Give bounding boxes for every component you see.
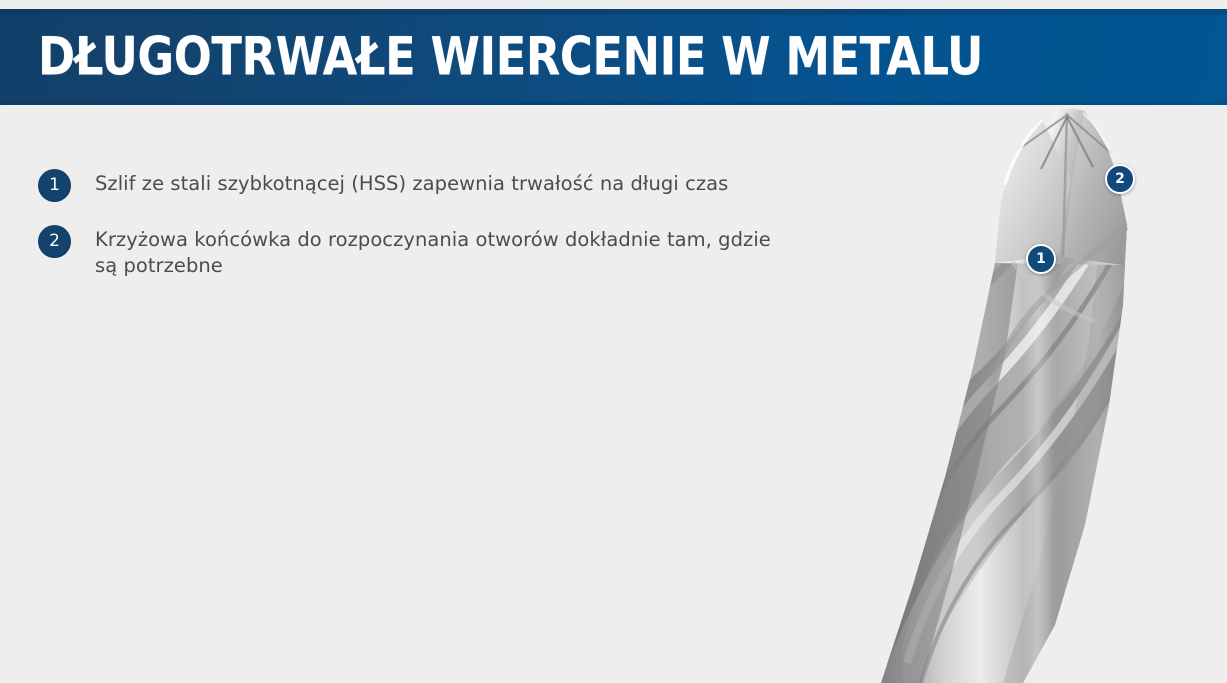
list-item: 1 Szlif ze stali szybkotnącej (HSS) zape… xyxy=(38,168,798,202)
drill-bit-illustration xyxy=(827,105,1227,683)
page-title: DŁUGOTRWAŁE WIERCENIE W METALU xyxy=(38,31,983,84)
product-callout-2: 2 xyxy=(1105,164,1135,194)
feature-text-2: Krzyżowa końcówka do rozpoczynania otwor… xyxy=(95,224,798,278)
feature-list: 1 Szlif ze stali szybkotnącej (HSS) zape… xyxy=(38,168,798,300)
banner-top-shade xyxy=(0,9,1227,15)
feature-text-1: Szlif ze stali szybkotnącej (HSS) zapewn… xyxy=(95,168,728,197)
feature-number-badge-1: 1 xyxy=(38,169,71,202)
feature-number-badge-2: 2 xyxy=(38,225,71,258)
page-root: DŁUGOTRWAŁE WIERCENIE W METALU 1 Szlif z… xyxy=(0,0,1227,683)
header-banner: DŁUGOTRWAŁE WIERCENIE W METALU xyxy=(0,9,1227,105)
list-item: 2 Krzyżowa końcówka do rozpoczynania otw… xyxy=(38,224,798,278)
product-callout-1: 1 xyxy=(1026,244,1056,274)
product-image-drill-bit xyxy=(827,105,1227,683)
